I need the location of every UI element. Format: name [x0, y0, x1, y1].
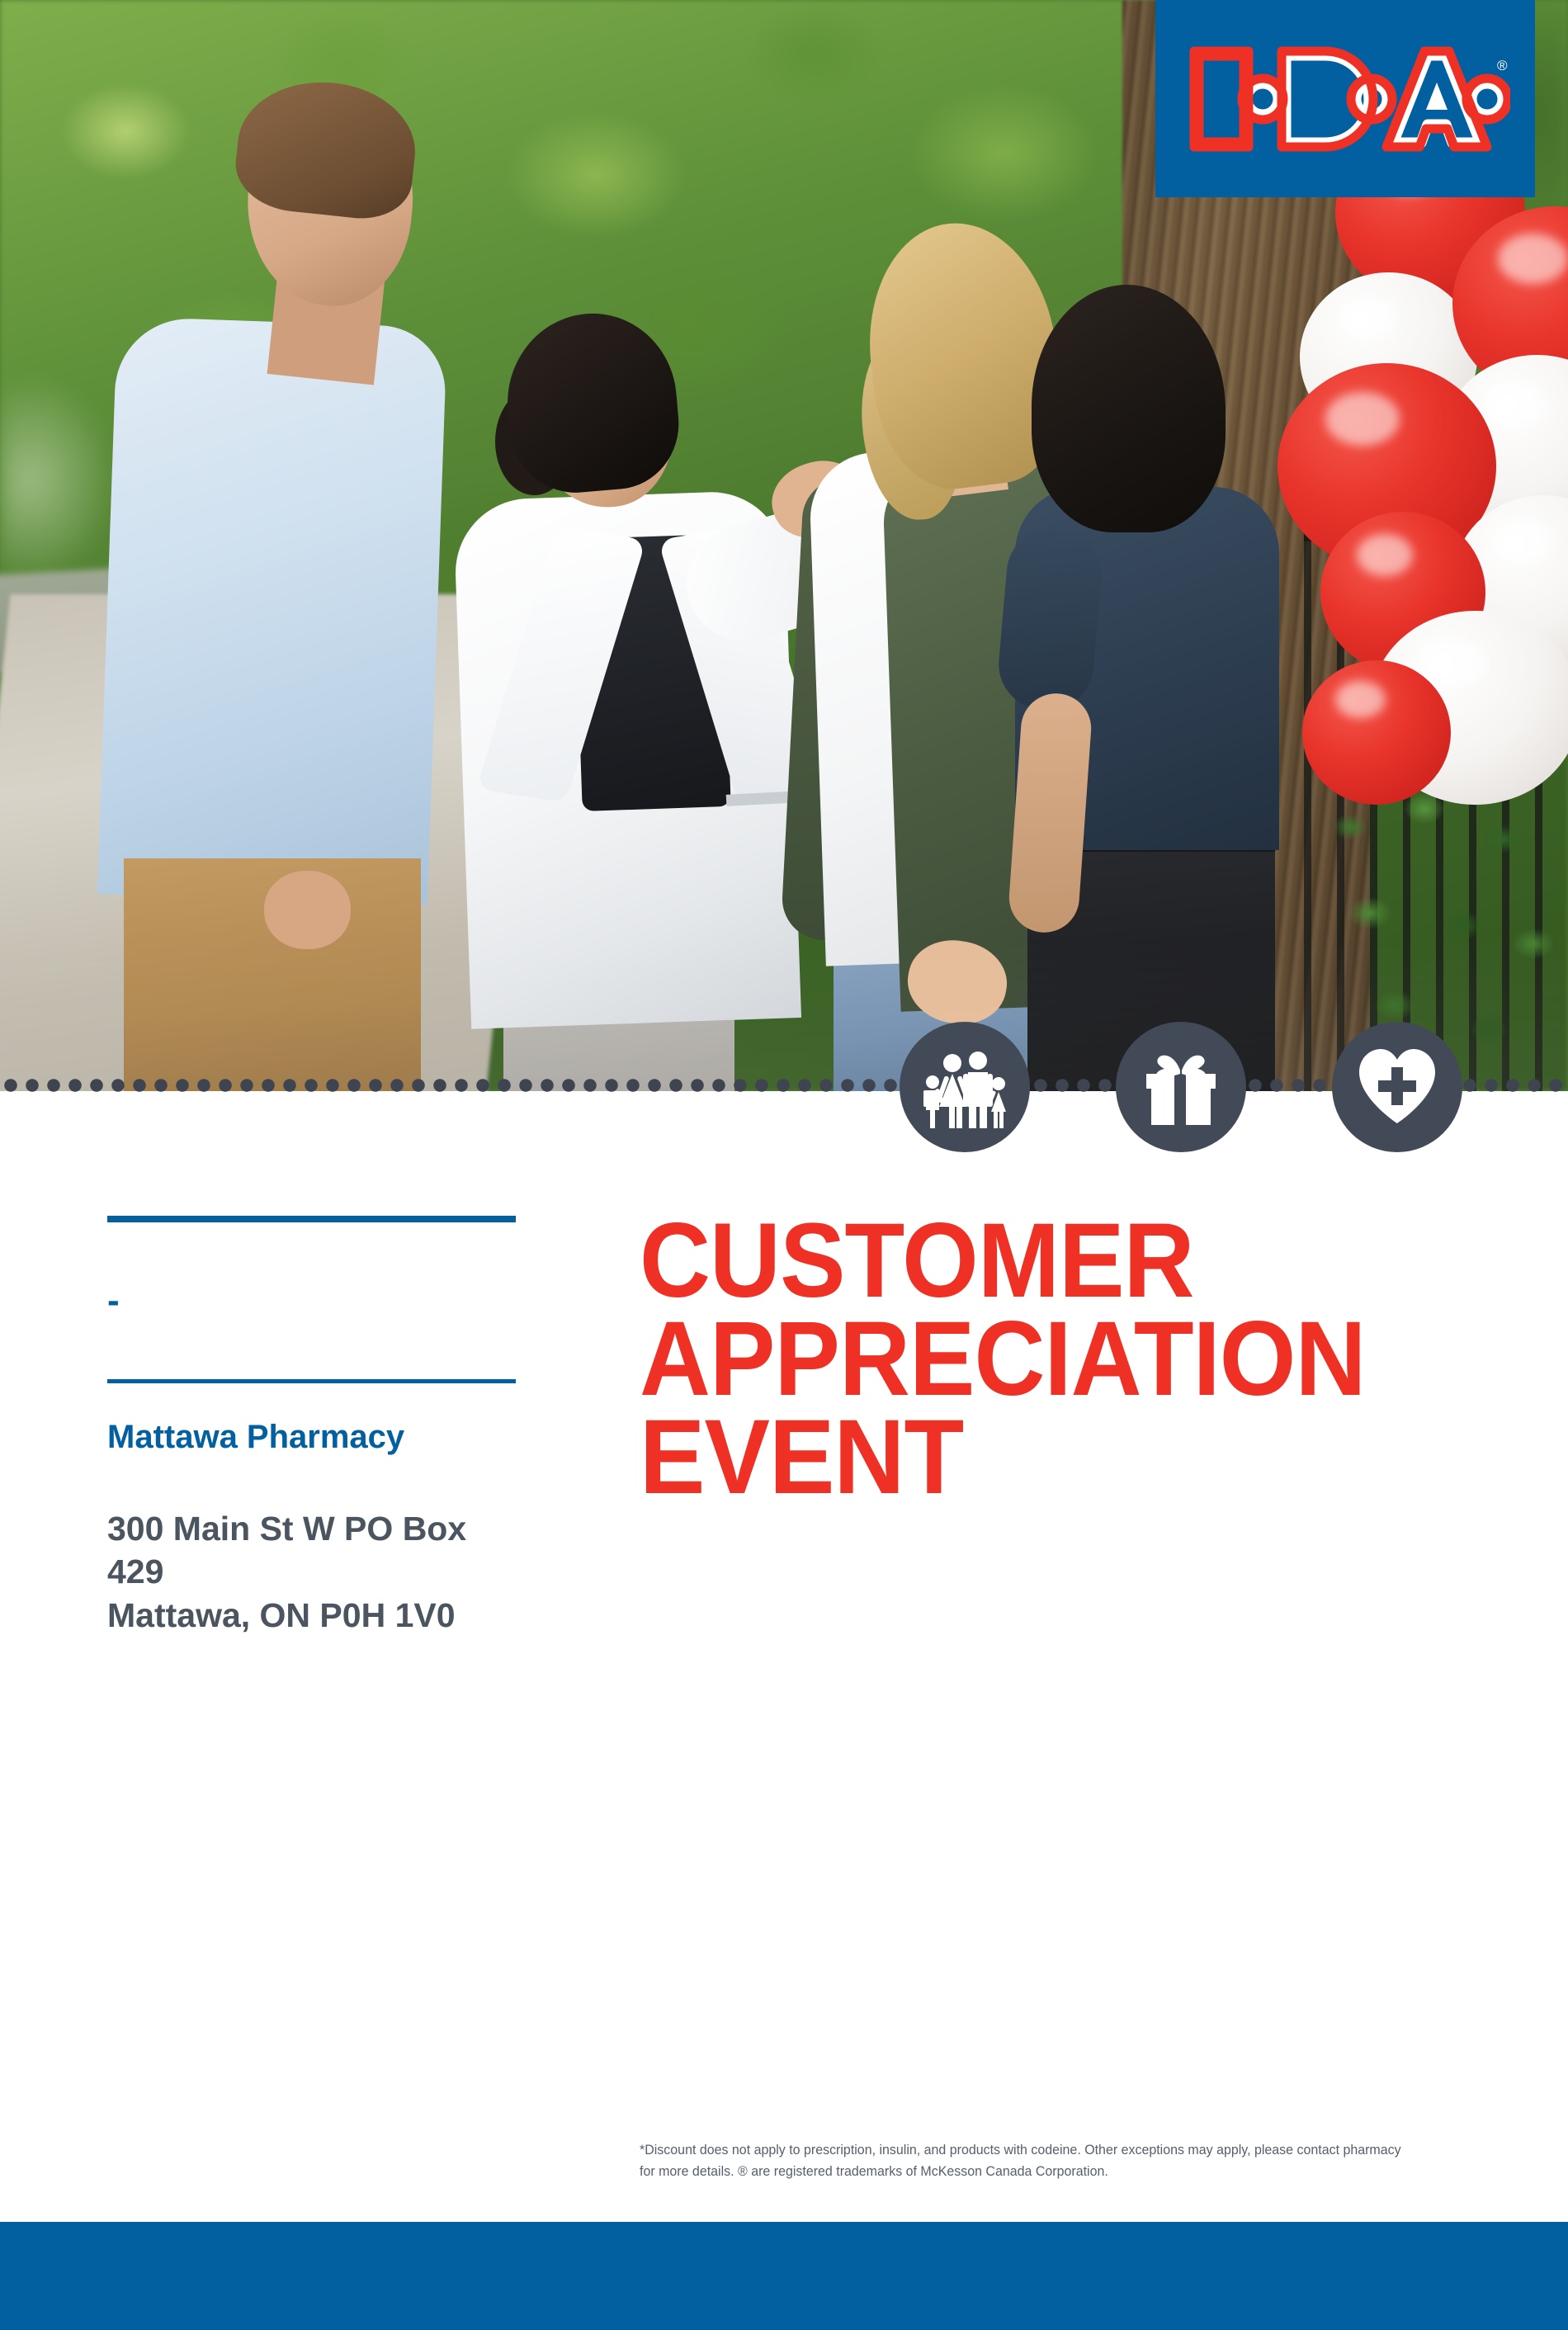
man-shirt: [97, 316, 447, 905]
man-hand: [264, 871, 351, 949]
footer-bar: [0, 2222, 1568, 2330]
date-rule-top: [107, 1216, 516, 1222]
disclaimer-text: *Discount does not apply to prescription…: [640, 2139, 1408, 2183]
second-customer-hair: [1032, 285, 1226, 532]
store-address-line2: Mattawa, ON P0H 1V0: [107, 1594, 520, 1637]
ida-logo: ®: [1180, 37, 1510, 161]
registered-mark-glyph: ®: [1497, 58, 1508, 73]
headline-line-1: CUSTOMER: [640, 1212, 1438, 1310]
ida-logo-panel: ®: [1155, 0, 1535, 197]
date-rule-bottom: [107, 1379, 516, 1383]
store-address-line1: 300 Main St W PO Box 429: [107, 1507, 520, 1594]
store-name: Mattawa Pharmacy: [107, 1418, 520, 1456]
event-date: -: [107, 1222, 520, 1379]
headline-line-3: EVENT: [640, 1408, 1438, 1506]
store-info-block: - Mattawa Pharmacy 300 Main St W PO Box …: [107, 1216, 520, 1637]
headline-line-2: APPRECIATION: [640, 1310, 1438, 1408]
headline: CUSTOMER APPRECIATION EVENT: [640, 1212, 1438, 1506]
poster-body: - Mattawa Pharmacy 300 Main St W PO Box …: [0, 1096, 1568, 2330]
red-balloon: [1302, 660, 1451, 805]
poster-page: ®: [0, 0, 1568, 2330]
